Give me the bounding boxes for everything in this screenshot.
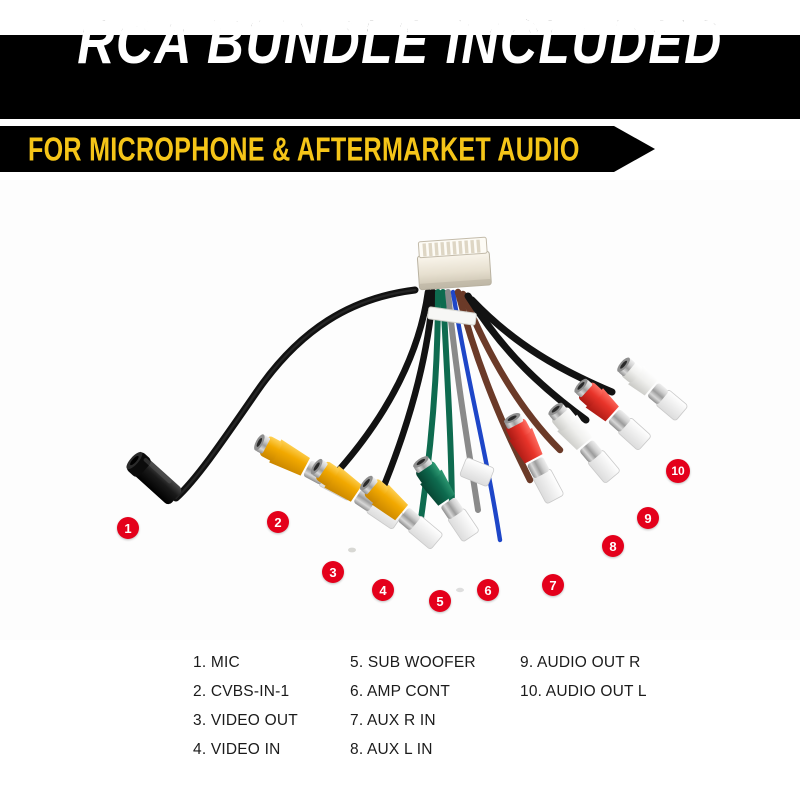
legend-item: 3. VIDEO OUT bbox=[193, 706, 298, 735]
callout-badge-8: 8 bbox=[602, 535, 624, 557]
callout-badge-2: 2 bbox=[267, 511, 289, 533]
callout-legend: 1. MIC 2. CVBS-IN-1 3. VIDEO OUT 4. VIDE… bbox=[0, 648, 800, 788]
callout-badge-1: 1 bbox=[117, 517, 139, 539]
promo-subtitle: FOR MICROPHONE & AFTERMARKET AUDIO bbox=[28, 120, 586, 178]
callout-badge-9: 9 bbox=[637, 507, 659, 529]
callout-badge-3: 3 bbox=[322, 561, 344, 583]
legend-item: 8. AUX L IN bbox=[350, 735, 476, 764]
legend-item: 7. AUX R IN bbox=[350, 706, 476, 735]
legend-item: 1. MIC bbox=[193, 648, 298, 677]
promo-header: RCA BUNDLE INCLUDED FOR MICROPHONE & AFT… bbox=[0, 0, 800, 180]
product-photo: 1 2 3 4 5 6 7 8 9 10 bbox=[0, 180, 800, 640]
legend-item: 4. VIDEO IN bbox=[193, 735, 298, 764]
promo-title: RCA BUNDLE INCLUDED bbox=[12, 0, 788, 92]
legend-item: 6. AMP CONT bbox=[350, 677, 476, 706]
callout-badge-10: 10 bbox=[666, 459, 690, 483]
callout-badge-5: 5 bbox=[429, 590, 451, 612]
legend-column-2: 5. SUB WOOFER 6. AMP CONT 7. AUX R IN 8.… bbox=[350, 648, 476, 764]
legend-column-3: 9. AUDIO OUT R 10. AUDIO OUT L bbox=[520, 648, 647, 706]
callout-badge-6: 6 bbox=[477, 579, 499, 601]
legend-column-1: 1. MIC 2. CVBS-IN-1 3. VIDEO OUT 4. VIDE… bbox=[193, 648, 298, 764]
legend-item: 9. AUDIO OUT R bbox=[520, 648, 647, 677]
callout-badge-4: 4 bbox=[372, 579, 394, 601]
legend-item: 5. SUB WOOFER bbox=[350, 648, 476, 677]
legend-item: 10. AUDIO OUT L bbox=[520, 677, 647, 706]
callout-badge-7: 7 bbox=[542, 574, 564, 596]
harness-illustration bbox=[0, 180, 800, 640]
legend-item: 2. CVBS-IN-1 bbox=[193, 677, 298, 706]
